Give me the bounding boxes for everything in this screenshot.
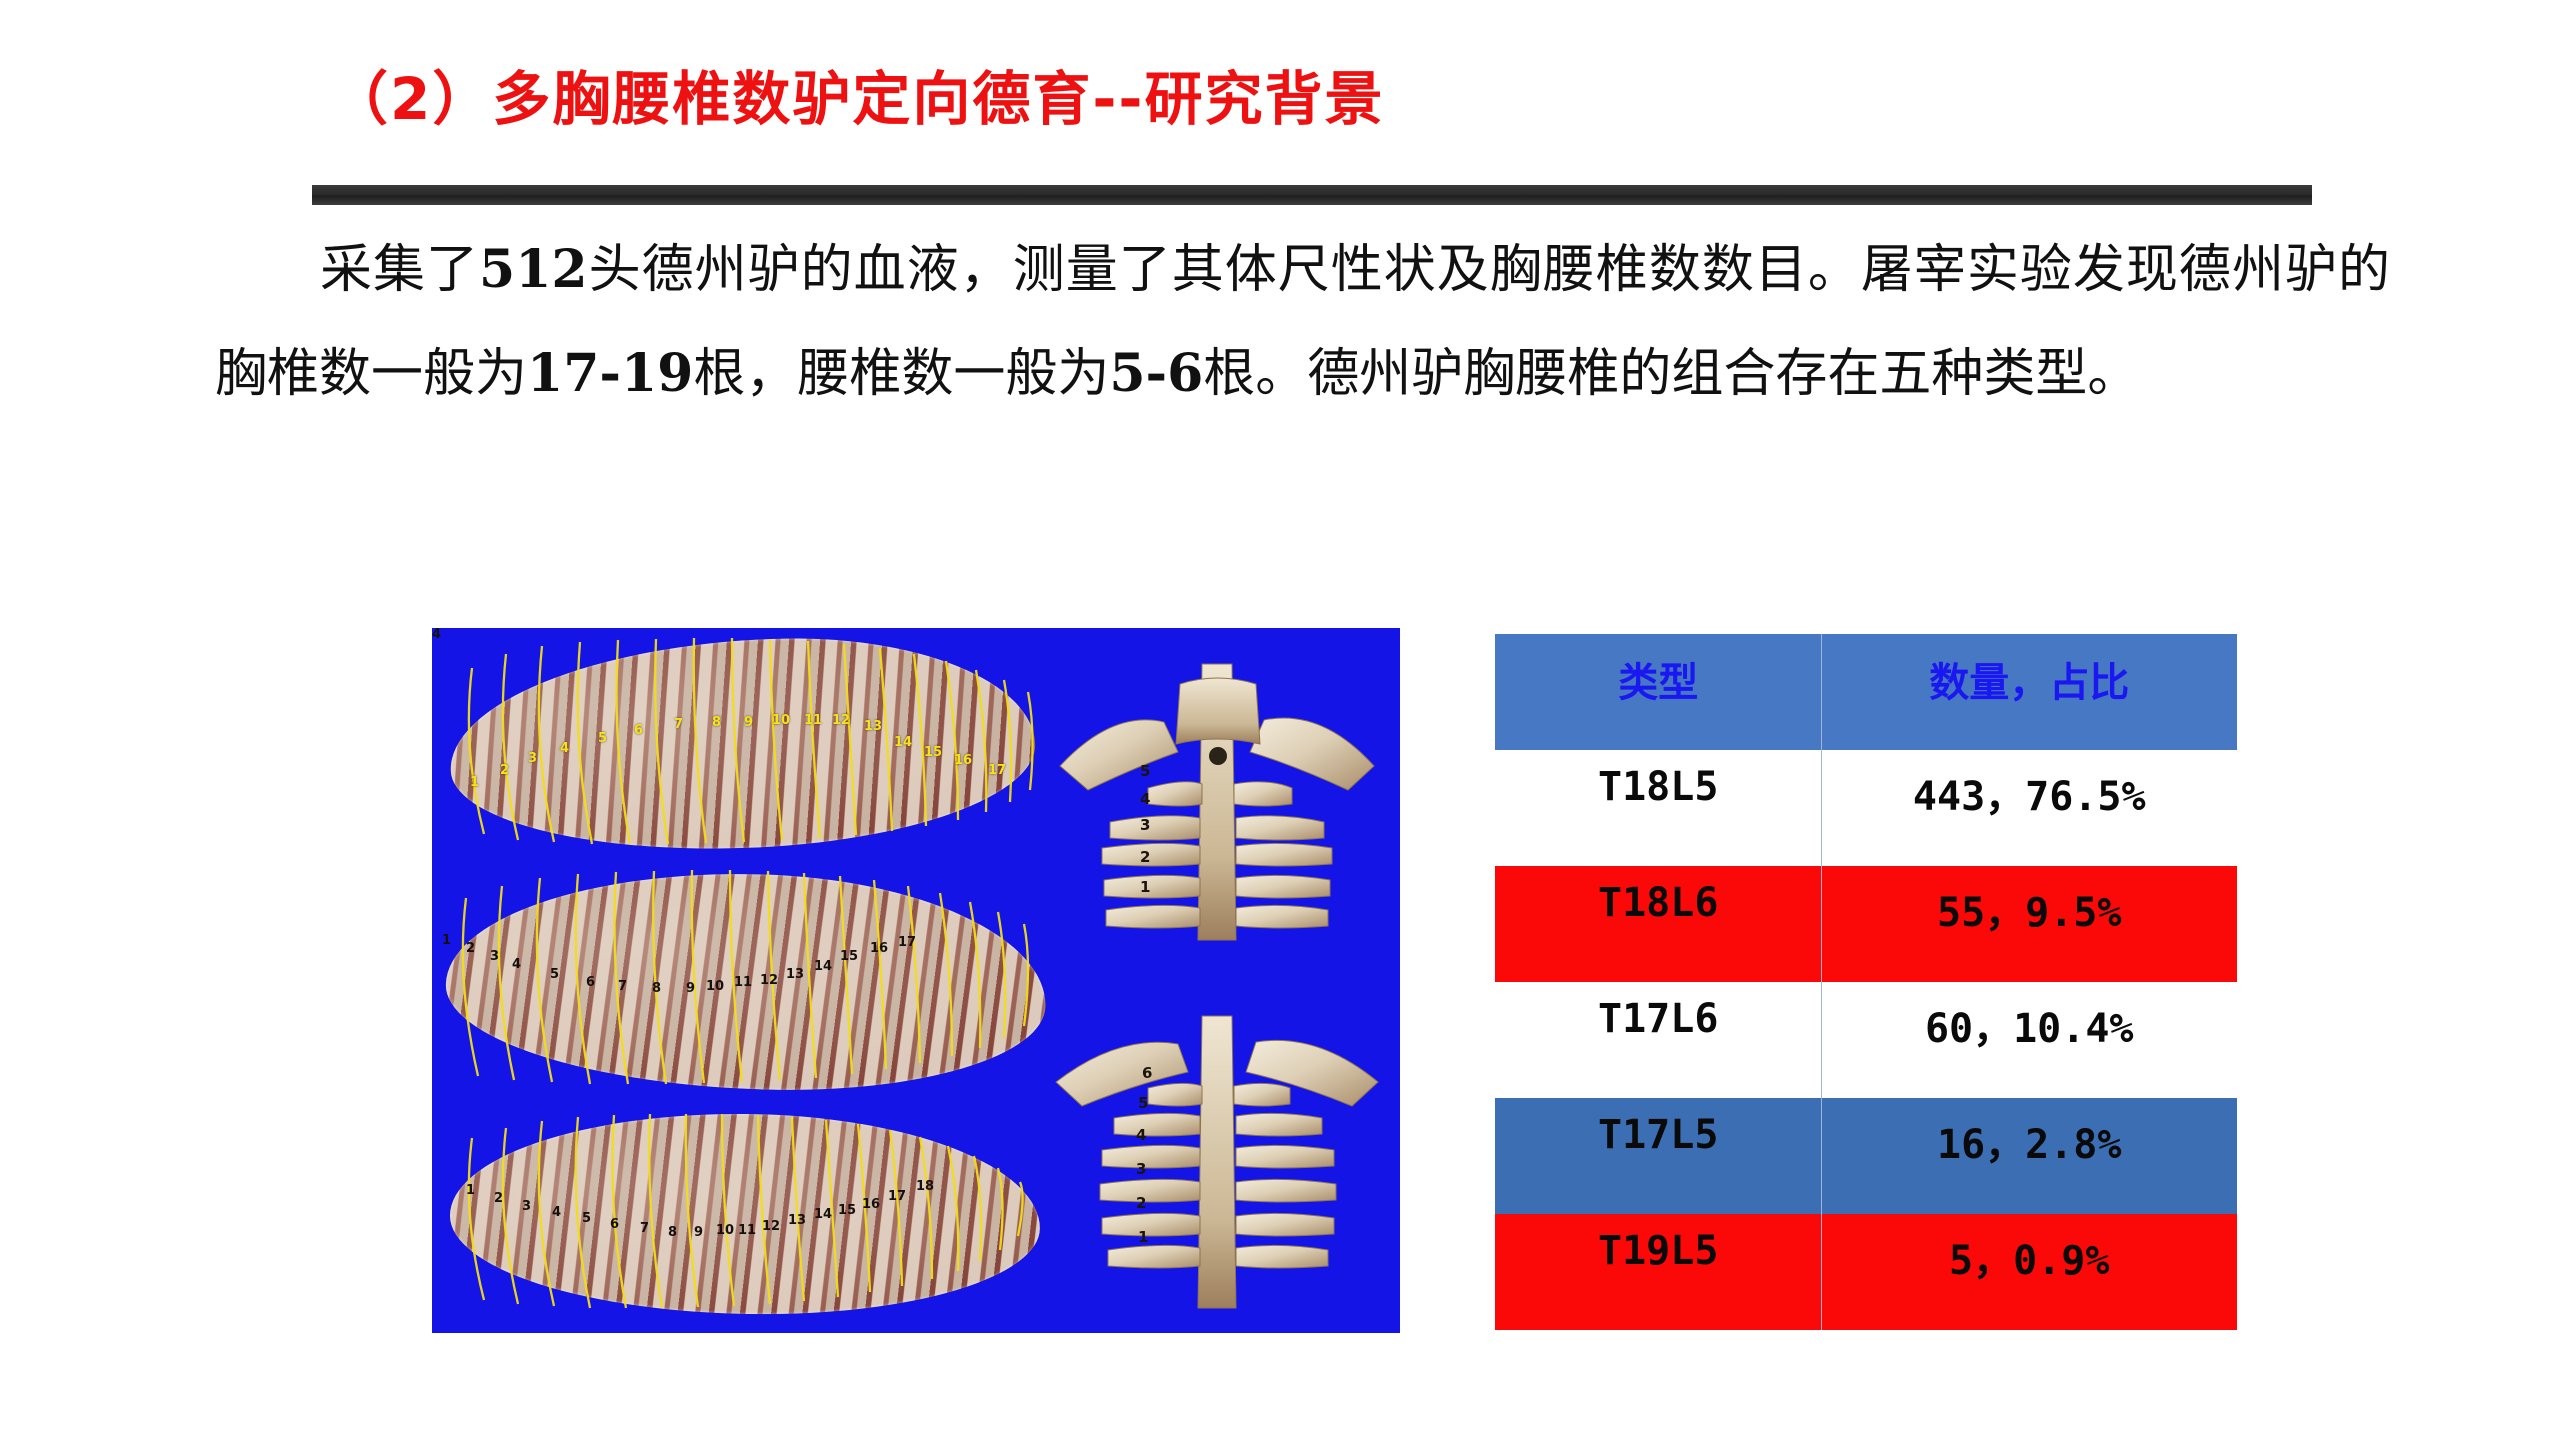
- rib-label: 6: [634, 724, 643, 737]
- rib-label: 13: [786, 968, 804, 981]
- vertebrae-type-table: 类型 数量，占比 T18L5 443，76.5% T18L6 55，9.5% T…: [1495, 634, 2237, 1330]
- rib-label: 15: [838, 1204, 856, 1217]
- body-seg-6: 腰椎的组合存在五种类型。: [1515, 344, 2139, 404]
- lumbar-label: 1: [1138, 1228, 1148, 1246]
- rib-label: 15: [924, 746, 942, 759]
- title-divider: [312, 185, 2312, 205]
- rib-label: 9: [744, 716, 753, 729]
- rib-label: 7: [674, 718, 683, 731]
- lumbar-label: 6: [1142, 1064, 1152, 1082]
- rib-label: 10: [716, 1224, 734, 1237]
- rib-label: 9: [686, 982, 695, 995]
- body-seg-4: 根，腰椎数一般为: [693, 344, 1109, 404]
- rib-label: 4: [432, 628, 441, 641]
- rib-label: 17: [898, 936, 916, 949]
- rib-label: 4: [552, 1206, 561, 1219]
- rib-label: 16: [954, 754, 972, 767]
- lumbar-5-photo: 5 4 3 2 1: [1052, 648, 1382, 948]
- table-row: T17L5 16，2.8%: [1495, 1098, 2237, 1214]
- lumbar-label: 4: [1140, 790, 1150, 808]
- rib-label: 4: [560, 742, 569, 755]
- lumbar-6-photo: 6 5 4 3 2 1: [1052, 1008, 1382, 1318]
- rib-label: 16: [862, 1198, 880, 1211]
- rib-label: 7: [618, 980, 627, 993]
- rib-label: 17: [988, 764, 1006, 777]
- rib-label: 14: [814, 1208, 832, 1221]
- table-header-row: 类型 数量，占比: [1495, 634, 2237, 750]
- rib-label: 4: [512, 958, 521, 971]
- rib-label: 7: [640, 1222, 649, 1235]
- table-row: T18L6 55，9.5%: [1495, 866, 2237, 982]
- rib-label: 1: [442, 934, 451, 947]
- cell-value: 443，76.5%: [1821, 750, 2237, 866]
- rib-label: 16: [870, 942, 888, 955]
- header-cell-type: 类型: [1495, 634, 1821, 750]
- rib-label: 14: [814, 960, 832, 973]
- lumbar-label: 2: [1140, 848, 1150, 866]
- vertebrae-figure: 1 2 3 4 5 6 7 8 9 10 11 12 13 14 15 16 1…: [432, 628, 1400, 1333]
- slide-canvas: （2）多胸腰椎数驴定向德育--研究背景 采集了512头德州驴的血液，测量了其体尺…: [0, 0, 2560, 1440]
- rib-label: 9: [694, 1226, 703, 1239]
- body-seg-5: 根。德州驴胸: [1203, 344, 1515, 404]
- cell-value: 16，2.8%: [1821, 1098, 2237, 1214]
- lumbar-label: 3: [1136, 1160, 1146, 1178]
- rib-label: 5: [598, 732, 607, 745]
- rib-label: 12: [760, 974, 778, 987]
- lumbar-label: 3: [1140, 816, 1150, 834]
- rib-label: 13: [864, 720, 882, 733]
- rib-label: 13: [788, 1214, 806, 1227]
- cell-type: T18L5: [1495, 750, 1821, 866]
- table-row: T17L6 60，10.4%: [1495, 982, 2237, 1098]
- body-seg-2: 头德州驴的血液，测量了其体尺性状及胸腰椎数数目。屠宰: [588, 240, 1967, 300]
- rib-label: 6: [586, 976, 595, 989]
- rib-label: 2: [494, 1192, 503, 1205]
- body-seg-1719: 17-19: [527, 343, 693, 404]
- rib-label: 1: [470, 776, 479, 789]
- rib-label: 15: [840, 950, 858, 963]
- rib-label: 11: [804, 714, 822, 727]
- lumbar-label: 5: [1138, 1094, 1148, 1112]
- rib-label: 10: [706, 980, 724, 993]
- cell-value: 60，10.4%: [1821, 982, 2237, 1098]
- rib-label: 2: [500, 764, 509, 777]
- rib-label: 3: [522, 1200, 531, 1213]
- rib-label: 12: [832, 714, 850, 727]
- table-row: T18L5 443，76.5%: [1495, 750, 2237, 866]
- page-title: （2）多胸腰椎数驴定向德育--研究背景: [330, 52, 1385, 136]
- cell-type: T17L6: [1495, 982, 1821, 1098]
- rib-label: 8: [652, 982, 661, 995]
- table-row: T19L5 5，0.9%: [1495, 1214, 2237, 1330]
- body-seg-56: 5-6: [1109, 343, 1203, 404]
- body-seg-512: 512: [479, 239, 588, 300]
- rib-label: 18: [916, 1180, 934, 1193]
- cell-value: 5，0.9%: [1821, 1214, 2237, 1330]
- lumbar-label: 2: [1136, 1194, 1146, 1212]
- rib-label: 11: [734, 976, 752, 989]
- rib-label: 3: [528, 752, 537, 765]
- cell-type: T18L6: [1495, 866, 1821, 982]
- header-cell-value: 数量，占比: [1821, 634, 2237, 750]
- cell-value: 55，9.5%: [1821, 866, 2237, 982]
- body-paragraph: 采集了512头德州驴的血液，测量了其体尺性状及胸腰椎数数目。屠宰实验发现德州驴的…: [215, 218, 2390, 426]
- lumbar-label: 4: [1136, 1126, 1146, 1144]
- rib-label: 8: [712, 716, 721, 729]
- rib-label: 5: [582, 1212, 591, 1225]
- rib-label: 12: [762, 1220, 780, 1233]
- rib-label: 17: [888, 1190, 906, 1203]
- rib-label: 8: [668, 1226, 677, 1239]
- lumbar-label: 5: [1140, 762, 1150, 780]
- cell-type: T19L5: [1495, 1214, 1821, 1330]
- rib-label: 6: [610, 1218, 619, 1231]
- rib-label: 1: [466, 1184, 475, 1197]
- rib-label: 2: [466, 942, 475, 955]
- rib-label: 11: [738, 1224, 756, 1237]
- lumbar-label: 1: [1140, 878, 1150, 896]
- cell-type: T17L5: [1495, 1098, 1821, 1214]
- rib-label: 14: [894, 736, 912, 749]
- body-seg-1: 采集了: [319, 240, 479, 300]
- rib-label: 5: [550, 968, 559, 981]
- rib-label: 3: [490, 950, 499, 963]
- rib-label: 10: [772, 714, 790, 727]
